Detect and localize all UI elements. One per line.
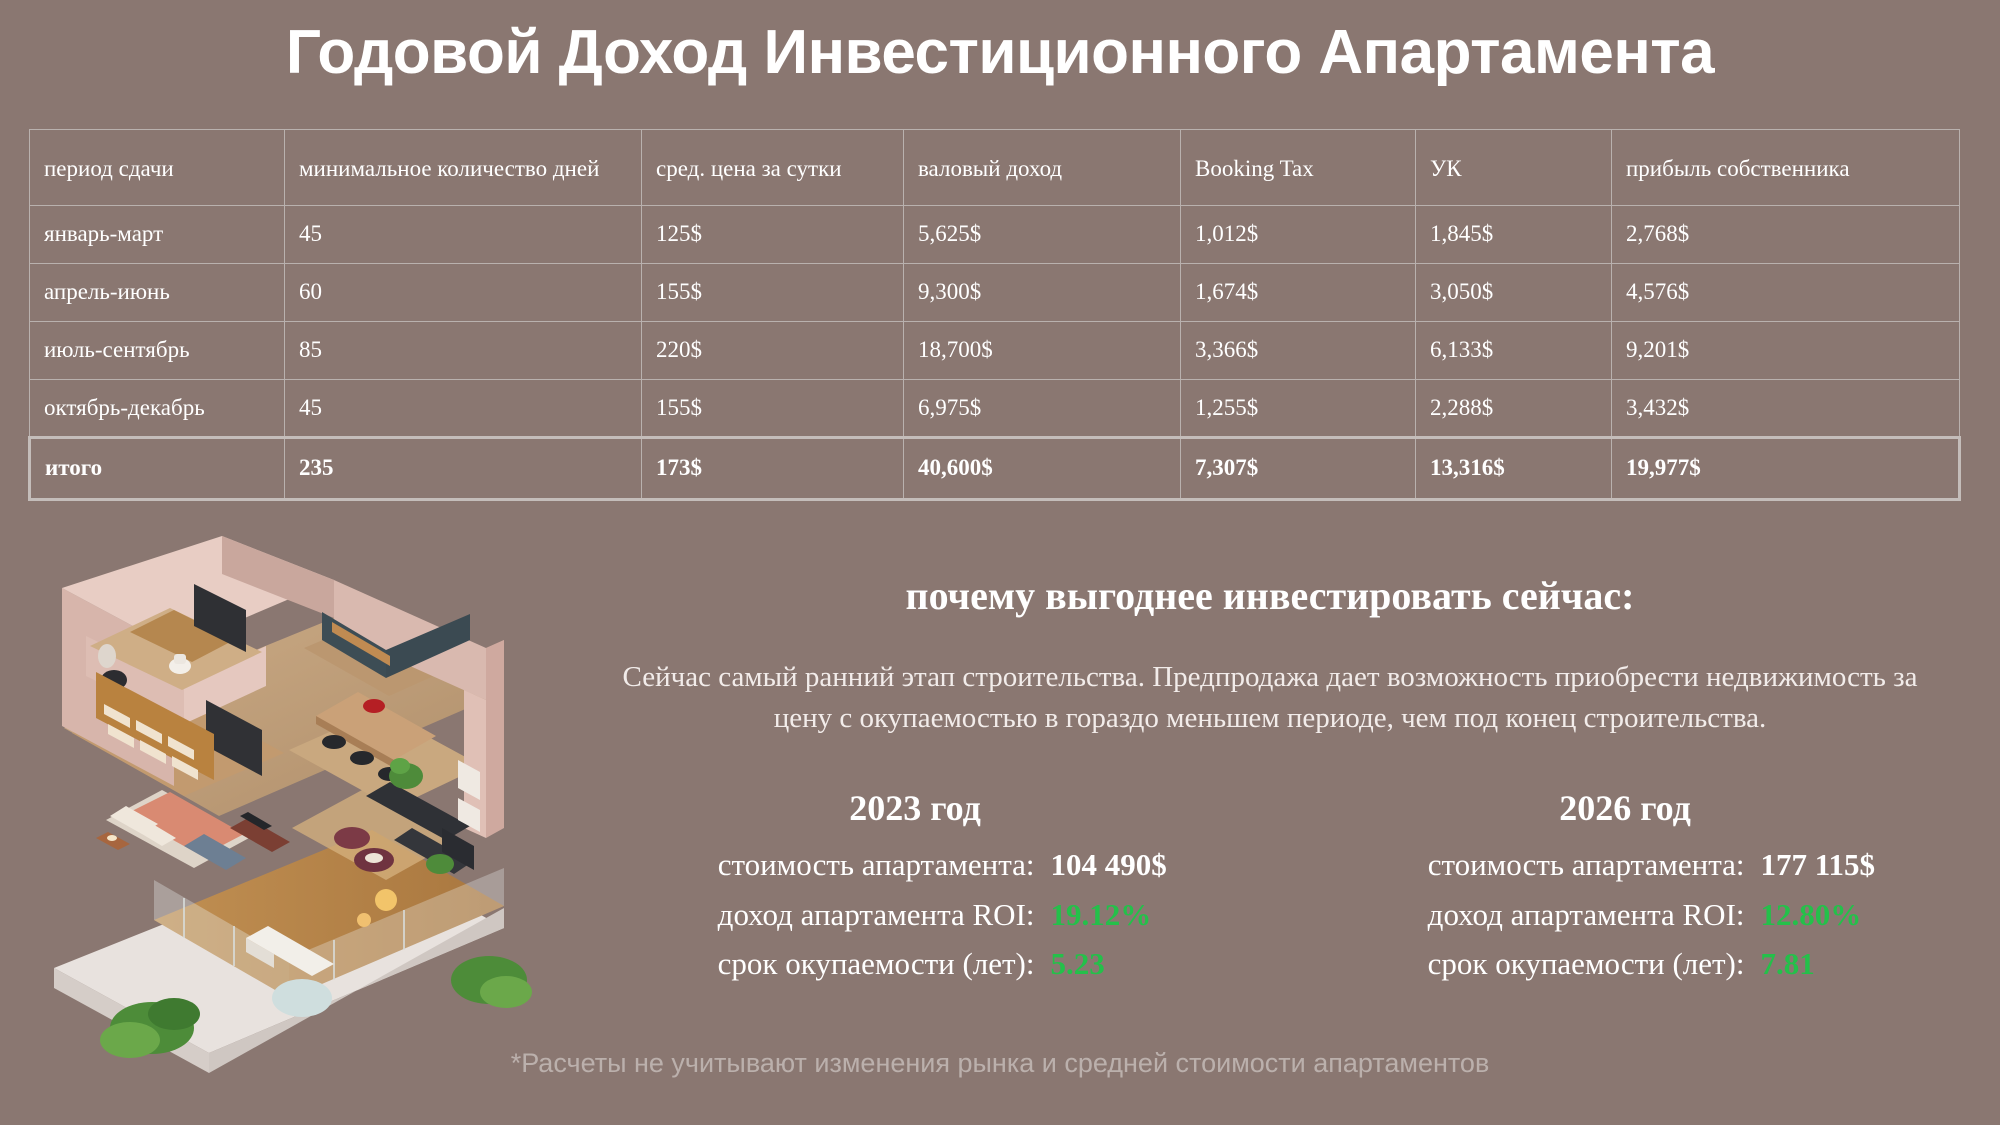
column-header-booking-tax: Booking Tax (1181, 130, 1416, 206)
column-header-period: период сдачи (30, 130, 285, 206)
stat-label-roi: доход апартамента ROI: (1340, 895, 1745, 935)
stat-label-roi: доход апартамента ROI: (630, 895, 1035, 935)
stat-label-price: стоимость апартамента: (630, 845, 1035, 885)
stat-row-roi-2026: доход апартамента ROI: 12.80% (1270, 895, 1980, 935)
cell-owner-profit: 3,432$ (1612, 380, 1960, 438)
column-header-uk: УК (1416, 130, 1612, 206)
cell-booking-tax: 1,012$ (1181, 206, 1416, 264)
year-title-2023: 2023 год (560, 787, 1270, 829)
column-header-avg-price: сред. цена за сутки (642, 130, 904, 206)
cell-total-min-days: 235 (285, 438, 642, 500)
cell-min-days: 45 (285, 380, 642, 438)
year-title-2026: 2026 год (1270, 787, 1980, 829)
income-table-container: период сдачи минимальное количество дней… (28, 129, 1958, 501)
cell-uk: 6,133$ (1416, 322, 1612, 380)
cell-total-gross-income: 40,600$ (904, 438, 1181, 500)
cell-avg-price: 125$ (642, 206, 904, 264)
table-row: апрель-июнь 60 155$ 9,300$ 1,674$ 3,050$… (30, 264, 1960, 322)
stat-value-price: 104 490$ (1051, 845, 1201, 885)
cell-uk: 3,050$ (1416, 264, 1612, 322)
cell-booking-tax: 3,366$ (1181, 322, 1416, 380)
cell-booking-tax: 1,674$ (1181, 264, 1416, 322)
cell-owner-profit: 4,576$ (1612, 264, 1960, 322)
cell-gross-income: 9,300$ (904, 264, 1181, 322)
stat-row-price-2023: стоимость апартамента: 104 490$ (560, 845, 1270, 885)
cell-min-days: 85 (285, 322, 642, 380)
year-column-2023: 2023 год стоимость апартамента: 104 490$… (560, 787, 1270, 993)
cell-booking-tax: 1,255$ (1181, 380, 1416, 438)
cell-uk: 1,845$ (1416, 206, 1612, 264)
year-comparison: 2023 год стоимость апартамента: 104 490$… (560, 787, 1980, 993)
stat-row-payback-2026: срок окупаемости (лет): 7.81 (1270, 944, 1980, 984)
stat-value-price: 177 115$ (1761, 845, 1911, 885)
year-column-2026: 2026 год стоимость апартамента: 177 115$… (1270, 787, 1980, 993)
cell-gross-income: 6,975$ (904, 380, 1181, 438)
column-header-owner-profit: прибыль собственника (1612, 130, 1960, 206)
page-title: Годовой Доход Инвестиционного Апартамент… (0, 0, 2000, 84)
table-row: январь-март 45 125$ 5,625$ 1,012$ 1,845$… (30, 206, 1960, 264)
section-paragraph: Сейчас самый ранний этап строительства. … (618, 657, 1923, 739)
cell-total-period: итого (30, 438, 285, 500)
stat-value-roi: 19.12% (1051, 895, 1201, 935)
cell-owner-profit: 2,768$ (1612, 206, 1960, 264)
cell-total-booking-tax: 7,307$ (1181, 438, 1416, 500)
cell-period: октябрь-декабрь (30, 380, 285, 438)
cell-period: апрель-июнь (30, 264, 285, 322)
cell-owner-profit: 9,201$ (1612, 322, 1960, 380)
annual-income-table: период сдачи минимальное количество дней… (28, 129, 1961, 501)
section-heading: почему выгоднее инвестировать сейчас: (560, 572, 1980, 619)
stat-value-roi: 12.80% (1761, 895, 1911, 935)
table-header: период сдачи минимальное количество дней… (30, 130, 1960, 206)
cell-avg-price: 220$ (642, 322, 904, 380)
table-total-row: итого 235 173$ 40,600$ 7,307$ 13,316$ 19… (30, 438, 1960, 500)
cell-total-owner-profit: 19,977$ (1612, 438, 1960, 500)
cell-avg-price: 155$ (642, 380, 904, 438)
column-header-min-days: минимальное количество дней (285, 130, 642, 206)
table-body: январь-март 45 125$ 5,625$ 1,012$ 1,845$… (30, 206, 1960, 500)
table-row: октябрь-декабрь 45 155$ 6,975$ 1,255$ 2,… (30, 380, 1960, 438)
cell-min-days: 45 (285, 206, 642, 264)
cell-min-days: 60 (285, 264, 642, 322)
apartment-floorplan-image (34, 528, 554, 1088)
cell-avg-price: 155$ (642, 264, 904, 322)
cell-uk: 2,288$ (1416, 380, 1612, 438)
cell-gross-income: 5,625$ (904, 206, 1181, 264)
cell-period: июль-сентябрь (30, 322, 285, 380)
footnote-disclaimer: *Расчеты не учитывают изменения рынка и … (0, 1048, 2000, 1079)
table-header-row: период сдачи минимальное количество дней… (30, 130, 1960, 206)
cell-gross-income: 18,700$ (904, 322, 1181, 380)
table-row: июль-сентябрь 85 220$ 18,700$ 3,366$ 6,1… (30, 322, 1960, 380)
investment-rationale-panel: почему выгоднее инвестировать сейчас: Се… (560, 560, 1980, 993)
stat-label-payback: срок окупаемости (лет): (1340, 944, 1745, 984)
cell-total-uk: 13,316$ (1416, 438, 1612, 500)
stat-row-payback-2023: срок окупаемости (лет): 5.23 (560, 944, 1270, 984)
column-header-gross-income: валовый доход (904, 130, 1181, 206)
stat-row-roi-2023: доход апартамента ROI: 19.12% (560, 895, 1270, 935)
cell-total-avg-price: 173$ (642, 438, 904, 500)
floorplan-illustration (34, 528, 554, 1088)
cell-period: январь-март (30, 206, 285, 264)
stat-value-payback: 7.81 (1761, 944, 1911, 984)
stat-value-payback: 5.23 (1051, 944, 1201, 984)
stat-label-price: стоимость апартамента: (1340, 845, 1745, 885)
stat-row-price-2026: стоимость апартамента: 177 115$ (1270, 845, 1980, 885)
stat-label-payback: срок окупаемости (лет): (630, 944, 1035, 984)
